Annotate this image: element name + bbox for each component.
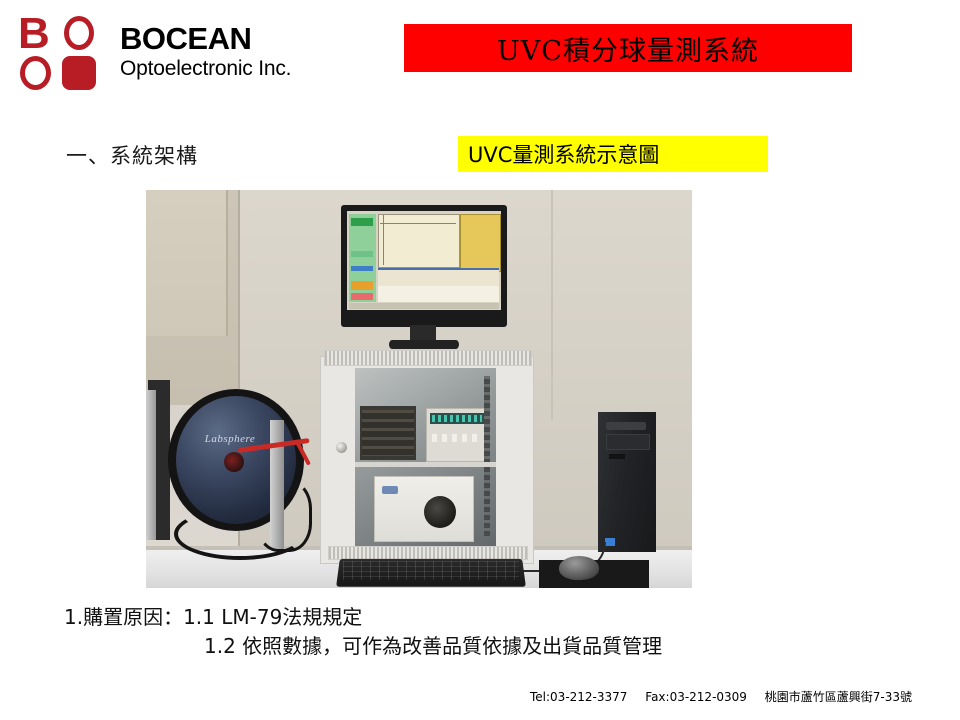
- photo-monitor-base: [389, 340, 459, 349]
- photo-lower-instrument-port: [424, 496, 456, 528]
- company-tagline: Optoelectronic Inc.: [120, 56, 350, 82]
- photo-rack-dark-module-fins: [362, 410, 414, 456]
- page-title: UVC積分球量測系統: [497, 29, 759, 68]
- photo-black-cable-coil-2: [256, 480, 312, 552]
- section-heading: 一、系統架構: [66, 140, 198, 170]
- photo-software-button-4: [351, 281, 373, 290]
- footer-address: 桃園市蘆竹區蘆興街7-33號: [765, 690, 912, 704]
- photo-sphere-port: [224, 452, 244, 472]
- photo-rack-mounting-rail: [484, 376, 490, 536]
- photo-wall-seam-secondary: [551, 190, 553, 420]
- photo-software-grid-panel: [378, 268, 499, 288]
- photo-instrument-controls: [432, 434, 482, 442]
- photo-rack-top-vent: [324, 350, 532, 366]
- photo-sphere-brand-label: Labsphere: [198, 433, 262, 445]
- slide-title-banner: UVC積分球量測系統: [404, 24, 852, 72]
- photo-software-button-1: [351, 218, 373, 226]
- photo-keyboard-keys: [343, 561, 519, 580]
- diagram-caption-label: UVC量測系統示意圖: [458, 139, 659, 169]
- company-name: BOCEAN: [120, 22, 350, 56]
- photo-instrument-digits: [432, 415, 482, 422]
- logo-square-shape: [62, 56, 96, 90]
- photo-pc-power-led: [605, 538, 615, 546]
- diagram-caption-box: UVC量測系統示意圖: [458, 136, 768, 172]
- photo-monitor-screen: [347, 211, 501, 310]
- photo-overhead-cabinet: [146, 190, 228, 336]
- photo-software-button-2: [351, 251, 373, 257]
- logo-letter-b: B: [18, 14, 49, 54]
- photo-software-button-3: [351, 266, 373, 271]
- footer-fax: Fax:03-212-0309: [645, 690, 747, 704]
- photo-pc-front-bay: [606, 434, 650, 450]
- photo-sphere-rail: [146, 390, 156, 540]
- photo-mouse: [559, 556, 599, 580]
- photo-pc-optical-drive: [606, 422, 646, 430]
- bocean-logo-mark: B: [16, 14, 104, 94]
- photo-rack-shelf: [355, 462, 496, 467]
- bocean-logo-wordmark: BOCEAN Optoelectronic Inc.: [120, 22, 350, 82]
- photo-software-button-5: [351, 293, 373, 300]
- footer-tel: Tel:03-212-3377: [530, 690, 627, 704]
- photo-lower-instrument-logo: [382, 486, 398, 494]
- photo-software-data-table: [460, 214, 501, 272]
- footer-contact: Tel:03-212-3377 Fax:03-212-0309 桃園市蘆竹區蘆興…: [530, 688, 912, 705]
- photo-pc-usb-ports: [609, 454, 625, 459]
- photo-software-chart-trace: [380, 223, 456, 224]
- body-text-line-1: 1.購置原因：1.1 LM-79法規規定: [64, 601, 362, 630]
- photo-software-lower-panel: [378, 286, 499, 302]
- photo-os-taskbar: [349, 303, 499, 309]
- photo-rack-door-lock: [336, 442, 347, 453]
- system-photo: Labsphere: [146, 190, 692, 588]
- logo-letter-o-top: [64, 16, 94, 50]
- logo-letter-o-bottom: [20, 56, 51, 90]
- body-text-line-2: 1.2 依照數據，可作為改善品質依據及出貨品質管理: [204, 630, 662, 659]
- photo-pc-tower: [598, 412, 656, 552]
